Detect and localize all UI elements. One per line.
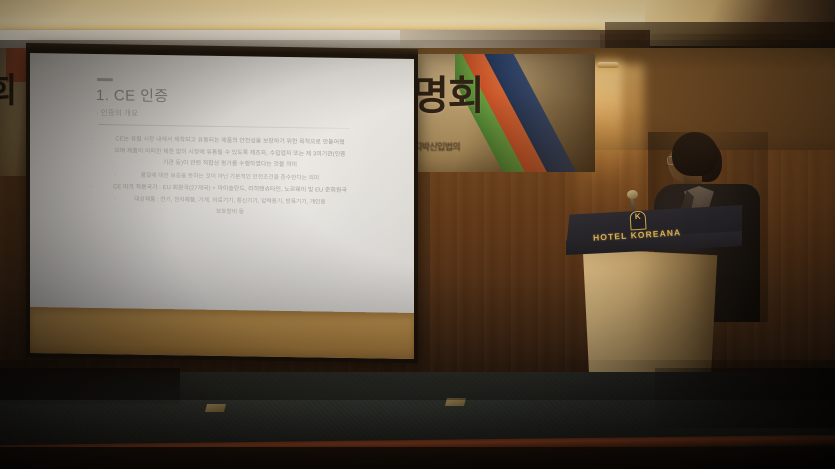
slide-accent-bar: [97, 78, 113, 81]
hotel-crest-letter: K: [631, 213, 645, 222]
hotel-crest-icon: K: [629, 211, 646, 231]
bullet-line: CE 마크 적용국가 : EU 회원국(27개국) + 아이슬란드, 리히텐슈타…: [113, 184, 347, 194]
slide-subtitle: · 인증의 개요: [96, 107, 138, 119]
microphone-head: [627, 190, 638, 199]
event-backdrop-banner: 명회 지박신입법의: [390, 54, 595, 172]
slide-divider: [98, 124, 350, 129]
floor-outlet-plate: [205, 404, 226, 412]
bullet-line: 기관 등)이 관련 적합성 평가를 수행하였다는 것을 의미: [163, 160, 297, 168]
slide-bullet: - CE는 유럽 시장 내에서 제작되고 유통되는 제품의 안전성을 보장하기 …: [88, 134, 372, 173]
bullet-line: 품질에 대한 보증을 뜻하는 것이 아닌 기본적인 안전조건을 준수한다는 의미: [141, 172, 319, 181]
screen-lower-band: [30, 307, 414, 359]
bullet-line: 대상제품 : 전기, 전자제품, 기계, 의료기기, 통신기기, 압력용기, 방…: [134, 197, 325, 206]
projection-screen: 1. CE 인증 · 인증의 개요 - CE는 유럽 시장 내에서 제작되고 유…: [30, 53, 414, 359]
bullet-line: 으며 제품이 어떠한 제한 없이 시장에 유통될 수 있도록 제조자, 수입업자…: [114, 148, 345, 158]
slide-title: 1. CE 인증: [96, 84, 168, 106]
presentation-slide: 1. CE 인증 · 인증의 개요 - CE는 유럽 시장 내에서 제작되고 유…: [30, 53, 414, 313]
stage-front-face: [0, 447, 835, 469]
floor-shadow-right: [655, 368, 835, 428]
bullet-marker: -: [114, 170, 116, 181]
banner-shadow-overlay: [390, 54, 595, 172]
floor-shadow-left: [0, 368, 180, 404]
wall-light-fixture: [597, 62, 619, 68]
speaker-hair: [672, 132, 718, 176]
bullet-line: CE는 유럽 시장 내에서 제작되고 유통되는 제품의 안전성을 보장하기 위한…: [115, 136, 344, 146]
bullet-marker: -: [90, 134, 92, 146]
slide-bullet: - 대상제품 : 전기, 전자제품, 기계, 의료기기, 통신기기, 압력용기,…: [88, 194, 372, 221]
conference-room-photo: 회 명회 지박신입법의 1. CE 인증 · 인증의 개요 - CE는 유럽 시…: [0, 0, 835, 469]
bullet-marker: -: [90, 182, 92, 194]
slide-body: - CE는 유럽 시장 내에서 제작되고 유통되는 제품의 안전성을 보장하기 …: [88, 134, 372, 222]
bullet-marker: -: [114, 194, 116, 205]
floor-outlet-plate: [445, 398, 466, 406]
bullet-line: 보호장비 등: [216, 209, 244, 215]
